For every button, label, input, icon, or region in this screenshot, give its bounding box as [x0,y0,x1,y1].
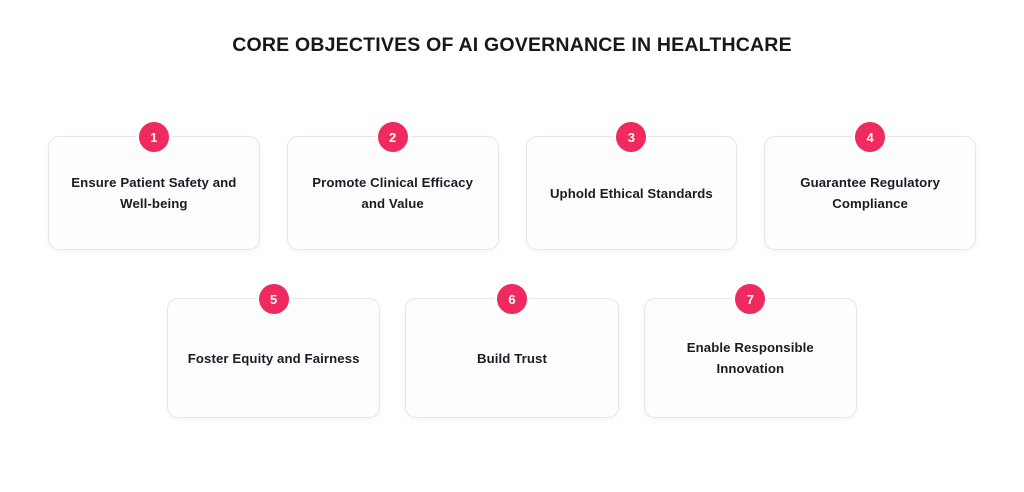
objective-card-1[interactable]: Ensure Patient Safety and Well-being 1 [48,136,260,250]
objective-number-badge: 1 [136,119,172,155]
objective-card-3[interactable]: Uphold Ethical Standards 3 [526,136,738,250]
page-title: CORE OBJECTIVES OF AI GOVERNANCE IN HEAL… [0,34,1024,57]
objective-card-7[interactable]: Enable Responsible Innovation 7 [644,298,857,418]
objective-row-bottom: Foster Equity and Fairness 5 Build Trust… [167,298,857,418]
objective-number-badge: 6 [494,281,530,317]
objective-card-2[interactable]: Promote Clinical Efficacy and Value 2 [287,136,499,250]
objective-card-6[interactable]: Build Trust 6 [405,298,618,418]
objective-number-badge: 4 [852,119,888,155]
objective-label: Uphold Ethical Standards [536,183,727,204]
objective-label: Build Trust [463,348,561,369]
objective-row-top: Ensure Patient Safety and Well-being 1 P… [48,136,976,250]
objective-number-badge: 5 [256,281,292,317]
infographic-canvas: CORE OBJECTIVES OF AI GOVERNANCE IN HEAL… [0,0,1024,492]
objective-label: Enable Responsible Innovation [645,337,856,379]
objective-number-badge: 3 [613,119,649,155]
objective-number-badge: 2 [375,119,411,155]
objective-label: Promote Clinical Efficacy and Value [288,172,498,214]
objective-label: Guarantee Regulatory Compliance [765,172,975,214]
objective-card-4[interactable]: Guarantee Regulatory Compliance 4 [764,136,976,250]
objective-label: Ensure Patient Safety and Well-being [49,172,259,214]
objective-number-badge: 7 [732,281,768,317]
objective-label: Foster Equity and Fairness [174,348,374,369]
objective-card-5[interactable]: Foster Equity and Fairness 5 [167,298,380,418]
